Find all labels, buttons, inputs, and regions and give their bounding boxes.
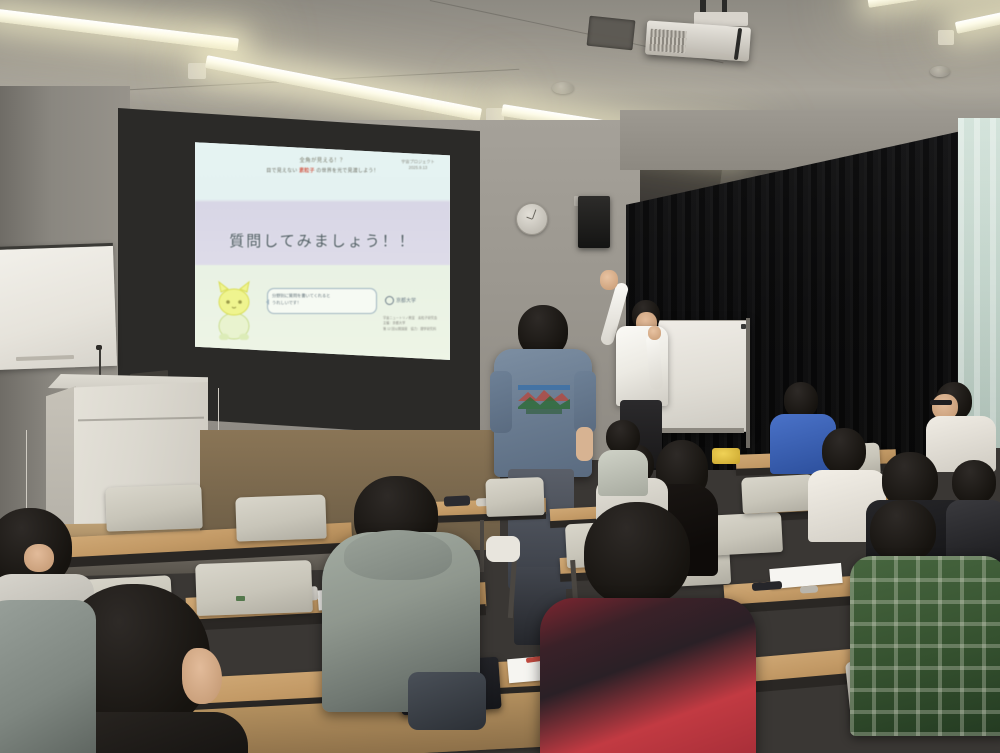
audience-small-white (486, 536, 526, 656)
head (584, 502, 690, 606)
white-object (486, 536, 520, 562)
slide-date-block: 宇宙プロジェクト 2025.9.13 (401, 159, 435, 172)
ceiling-vent (587, 16, 636, 51)
chair[interactable] (485, 477, 544, 517)
red-jersey (540, 598, 756, 753)
standing-student-left-arm (490, 371, 512, 433)
ceiling-speaker-icon (552, 82, 574, 94)
slide-credits: 宇宙ニュートリノ教室 素粒子研究会 主催：京都大学 第 12 回公開講座 協力：… (383, 316, 445, 332)
head (784, 382, 818, 418)
desk-small-object (800, 585, 818, 593)
slide-subheader-highlight: 素粒子 (299, 168, 315, 174)
hoodie-lower (408, 672, 486, 730)
wall-speaker (578, 196, 610, 248)
chair[interactable] (235, 494, 326, 541)
plaid-shirt (850, 556, 1000, 736)
projector-vent (649, 29, 686, 53)
face (24, 544, 54, 572)
light-end-cap (188, 63, 206, 79)
ear (182, 648, 222, 704)
light-end-cap (938, 30, 954, 45)
standing-student-right-arm (574, 371, 596, 433)
slide-bubble-line1: 分野別に質問を書いてくれると (272, 292, 372, 299)
hoodie-hood (344, 530, 452, 580)
audience-behind-standing (598, 420, 650, 490)
audience-front-left-gray (0, 600, 100, 753)
audience-gray-hoodie (322, 476, 482, 726)
slide-main-message: 質問してみましょう！！ (195, 230, 450, 251)
head (870, 500, 936, 562)
audience-green-plaid (850, 500, 1000, 730)
slide-logo-mark-icon (385, 296, 394, 305)
head (952, 460, 996, 504)
slide-logo: 京都大学 (385, 296, 416, 305)
slide-subheader-suffix: の世界を光で見渡しよう！ (315, 168, 379, 174)
chair[interactable] (105, 484, 202, 531)
head (822, 428, 866, 474)
slide-logo-text: 京都大学 (396, 297, 416, 304)
lecture-room-photo: 全角が見える！？ 目で見えない 素粒子 の世界を光で見渡しよう！ 宇宙プロジェク… (0, 0, 1000, 753)
wall-clock (516, 203, 548, 235)
slide-bubble-line2: うれしいです！ (272, 299, 372, 306)
ceiling-sprinkler-icon (930, 66, 950, 77)
glasses-icon (930, 400, 952, 405)
presenter-hand (648, 326, 661, 340)
projection-screen: 全角が見える！？ 目で見えない 素粒子 の世界を光で見渡しよう！ 宇宙プロジェク… (195, 140, 450, 360)
standing-student-forearm (576, 427, 593, 461)
head (606, 420, 640, 454)
audience-red-jersey (540, 502, 760, 753)
slide-date-line2: 2025.9.13 (401, 165, 435, 171)
slide-speech-bubble: 分野別に質問を書いてくれると うれしいです！ (267, 288, 377, 314)
whiteboard-leg (746, 318, 750, 448)
presenter-raised-hand (600, 270, 618, 290)
torso (598, 450, 648, 496)
tshirt-mountain-graphic-icon (516, 383, 572, 417)
slide-content: 全角が見える！？ 目で見えない 素粒子 の世界を光で見渡しよう！ 宇宙プロジェク… (195, 140, 450, 360)
torso (0, 600, 96, 753)
slide-credit-line3: 第 12 回公開講座 協力：理学研究科 (383, 327, 445, 332)
yellow-cat-mascot-icon (211, 280, 257, 340)
slide-subheader-prefix: 目で見えない (266, 168, 299, 174)
